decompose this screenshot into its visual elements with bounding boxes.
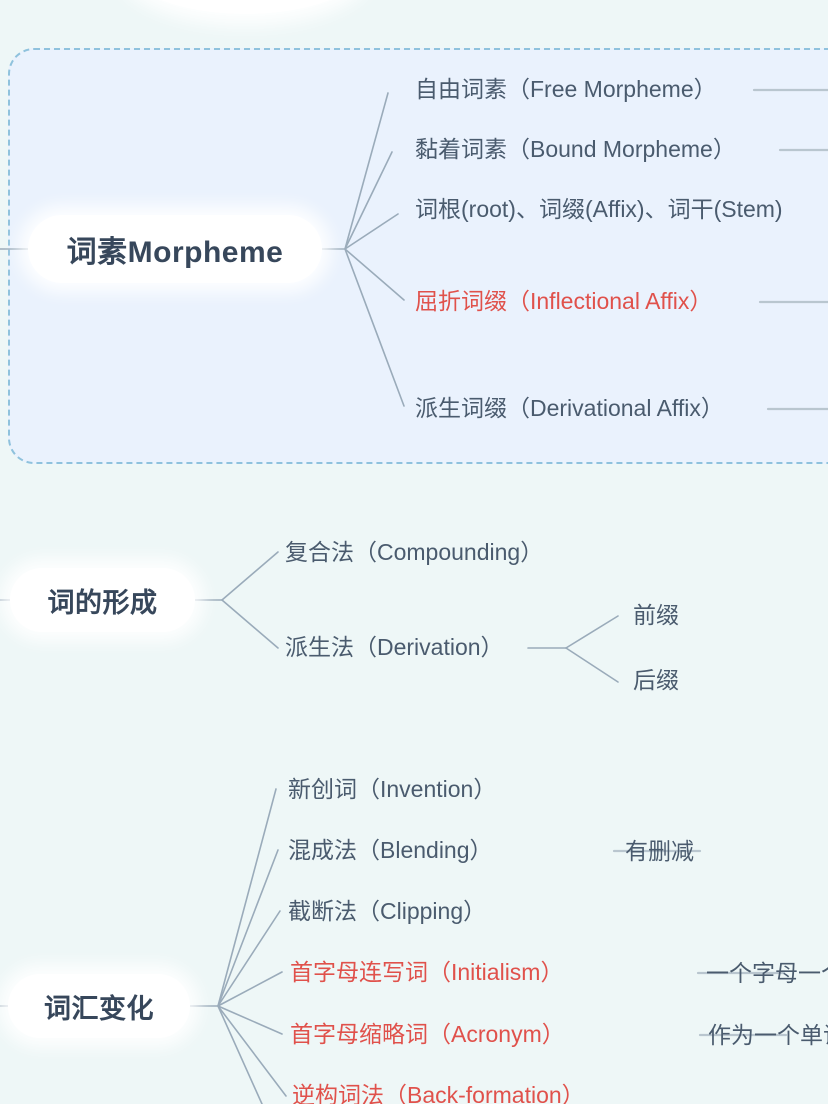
leaf-label: 派生词缀（Derivational Affix） [415,395,724,421]
leaf-blending[interactable]: 混成法（Blending） [288,839,493,862]
top-node-stub [128,0,363,14]
leaf-label: 首字母连写词（Initialism） [290,959,563,985]
leaf-initialism[interactable]: 首字母连写词（Initialism） [290,961,563,984]
topic-word-formation-label: 词的形成 [48,581,158,620]
leaf-root-affix-stem[interactable]: 词根(root)、词缀(Affix)、词干(Stem) [415,198,783,221]
leaf-compounding[interactable]: 复合法（Compounding） [285,541,543,564]
note-label: 有删减 [625,838,694,864]
leaf-label: 前缀 [633,602,679,628]
note-acronym[interactable]: 作为一个单词 [708,1024,828,1047]
leaf-label: 截断法（Clipping） [288,898,486,924]
leaf-prefix[interactable]: 前缀 [633,604,679,627]
leaf-label: 后缀 [633,667,679,693]
leaf-bound-morpheme[interactable]: 黏着词素（Bound Morpheme） [415,138,736,161]
note-blending[interactable]: 有删减 [625,840,694,863]
leaf-clipping[interactable]: 截断法（Clipping） [288,900,486,923]
leaf-derivation[interactable]: 派生法（Derivation） [285,636,504,659]
leaf-inflectional-affix[interactable]: 屈折词缀（Inflectional Affix） [415,290,712,313]
leaf-free-morpheme[interactable]: 自由词素（Free Morpheme） [415,78,717,101]
topic-morpheme-label: 词素Morpheme [67,227,284,271]
leaf-label: 新创词（Invention） [288,776,496,802]
leaf-derivational-affix[interactable]: 派生词缀（Derivational Affix） [415,397,724,420]
leaf-label: 屈折词缀（Inflectional Affix） [415,288,712,314]
topic-morpheme[interactable]: 词素Morpheme [28,215,322,283]
leaf-label: 复合法（Compounding） [285,539,543,565]
leaf-label: 词根(root)、词缀(Affix)、词干(Stem) [415,196,783,222]
note-label: 一个字母一个 [706,960,828,986]
topic-vocabulary-change-label: 词汇变化 [44,987,154,1026]
leaf-label: 逆构词法（Back-formation） [292,1082,585,1104]
topic-word-formation[interactable]: 词的形成 [10,568,195,632]
leaf-acronym[interactable]: 首字母缩略词（Acronym） [290,1023,565,1046]
mindmap-canvas: 词素Morpheme 词的形成 词汇变化 自由词素（Free Morpheme）… [0,0,828,1104]
topic-vocabulary-change[interactable]: 词汇变化 [8,974,190,1038]
leaf-label: 派生法（Derivation） [285,634,504,660]
note-label: 作为一个单词 [708,1022,828,1048]
leaf-suffix[interactable]: 后缀 [633,669,679,692]
leaf-label: 首字母缩略词（Acronym） [290,1021,565,1047]
leaf-invention[interactable]: 新创词（Invention） [288,778,496,801]
leaf-back-formation[interactable]: 逆构词法（Back-formation） [292,1084,585,1104]
leaf-label: 混成法（Blending） [288,837,493,863]
leaf-label: 自由词素（Free Morpheme） [415,76,717,102]
leaf-label: 黏着词素（Bound Morpheme） [415,136,736,162]
note-initialism[interactable]: 一个字母一个 [706,962,828,985]
